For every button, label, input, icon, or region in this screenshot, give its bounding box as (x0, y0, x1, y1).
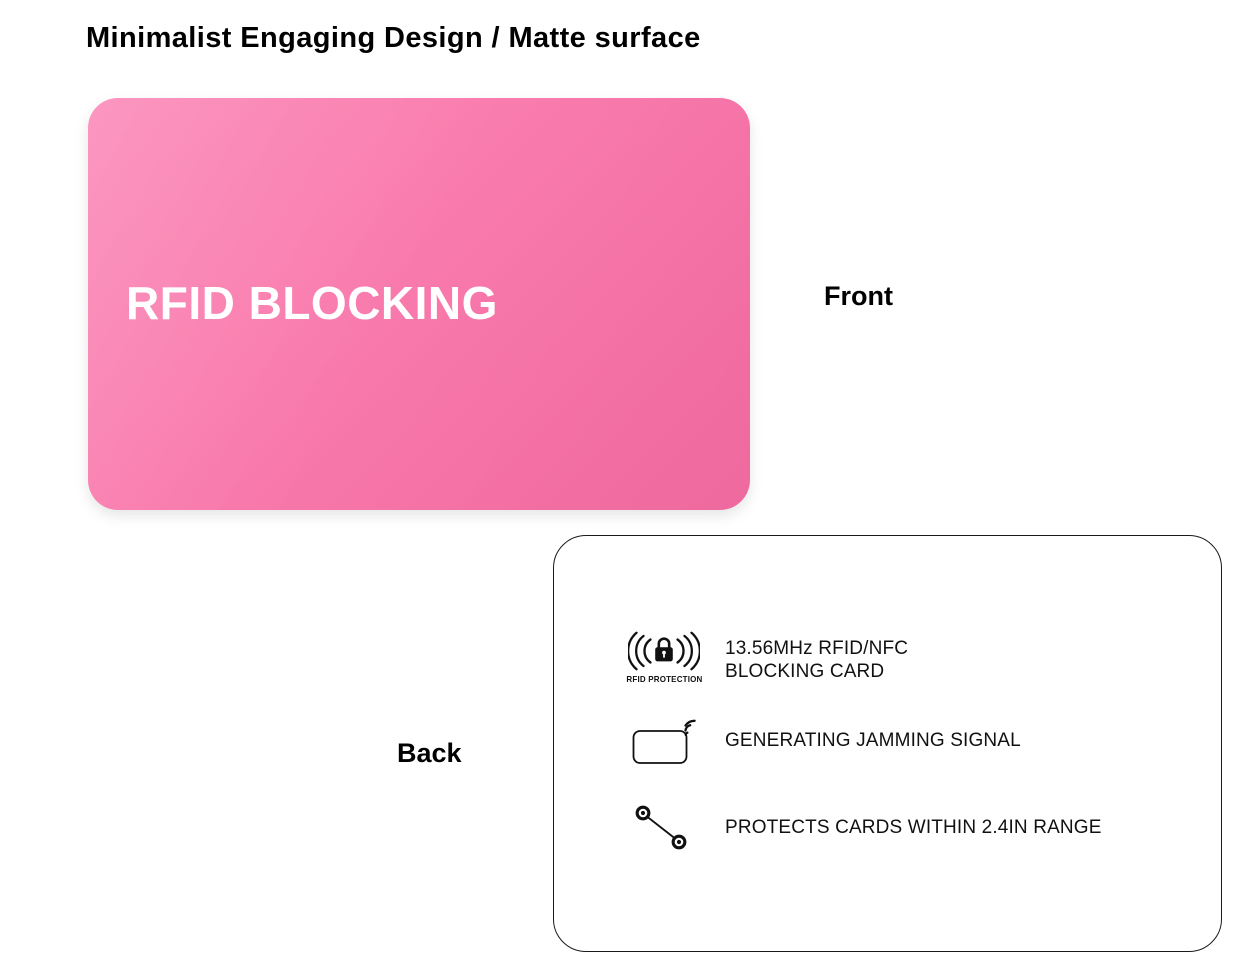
feature-row: RFID PROTECTION 13.56MHz RFID/NFC BLOCKI… (625, 631, 1185, 684)
front-card[interactable]: RFID BLOCKING (88, 98, 750, 510)
front-caption: Front (824, 281, 893, 312)
feature-text: 13.56MHz RFID/NFC BLOCKING CARD (725, 631, 908, 683)
distance-range-icon (625, 796, 703, 854)
rfid-protection-lock-icon: RFID PROTECTION (625, 631, 703, 684)
back-caption: Back (397, 738, 462, 769)
feature-text: GENERATING JAMMING SIGNAL (725, 713, 1021, 752)
feature-list: RFID PROTECTION 13.56MHz RFID/NFC BLOCKI… (625, 631, 1185, 854)
front-card-label: RFID BLOCKING (126, 276, 498, 330)
feature-row: GENERATING JAMMING SIGNAL (625, 713, 1185, 767)
feature-row: PROTECTS CARDS WITHIN 2.4IN RANGE (625, 796, 1185, 854)
back-card[interactable]: RFID PROTECTION 13.56MHz RFID/NFC BLOCKI… (553, 535, 1222, 952)
page-title: Minimalist Engaging Design / Matte surfa… (86, 22, 701, 55)
rfid-protection-caption: RFID PROTECTION (626, 674, 702, 684)
card-jamming-signal-icon (625, 713, 703, 767)
feature-text: PROTECTS CARDS WITHIN 2.4IN RANGE (725, 796, 1102, 839)
